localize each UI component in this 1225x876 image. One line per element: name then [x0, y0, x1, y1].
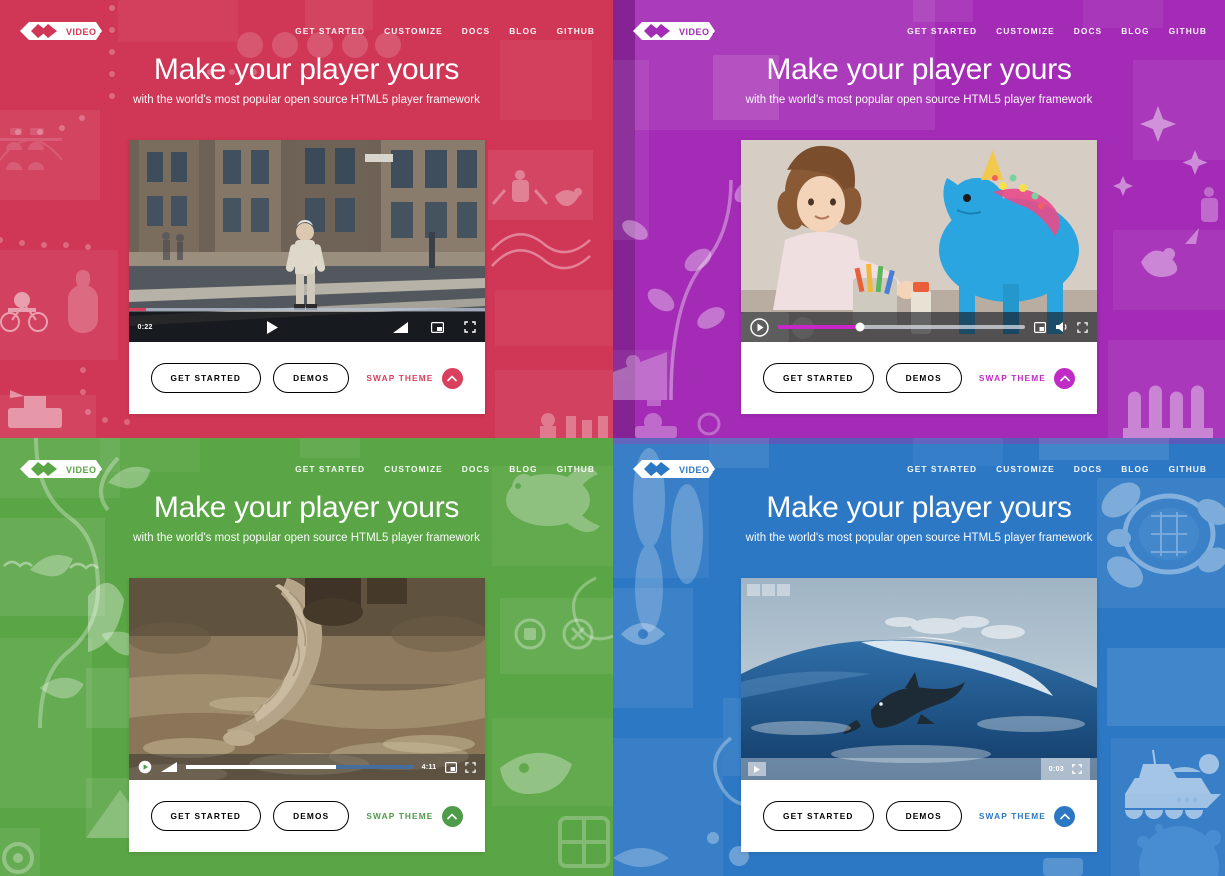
- volume-icon[interactable]: [160, 761, 178, 773]
- nav-link-customize[interactable]: CUSTOMIZE: [996, 26, 1055, 36]
- card-actions-purple: GET STARTED DEMOS SWAP THEME: [741, 342, 1097, 414]
- nav-link-blog[interactable]: BLOG: [1121, 464, 1149, 474]
- page-subtitle: with the world's most popular open sourc…: [0, 94, 613, 106]
- current-time-label: 0:03: [1049, 766, 1064, 773]
- picture-in-picture-icon[interactable]: [1034, 322, 1046, 333]
- nav-link-docs[interactable]: DOCS: [1074, 26, 1102, 36]
- svg-text:VIDEO JS: VIDEO JS: [66, 465, 102, 475]
- nav-link-customize[interactable]: CUSTOMIZE: [384, 464, 443, 474]
- videojs-logo[interactable]: VIDEO JS: [16, 457, 102, 481]
- nav-link-get-started[interactable]: GET STARTED: [907, 464, 977, 474]
- progress-bar-green[interactable]: [186, 765, 414, 769]
- page-subtitle: with the world's most popular open sourc…: [0, 532, 613, 544]
- swap-theme-label: SWAP THEME: [979, 373, 1046, 383]
- nav-link-customize[interactable]: CUSTOMIZE: [384, 26, 443, 36]
- svg-text:VIDEO JS: VIDEO JS: [679, 27, 715, 37]
- page-subtitle: with the world's most popular open sourc…: [613, 532, 1225, 544]
- player-controls-red[interactable]: 0:22: [129, 312, 485, 342]
- play-icon[interactable]: [265, 320, 279, 335]
- nav-link-github[interactable]: GITHUB: [557, 464, 595, 474]
- progress-bar-red[interactable]: [129, 308, 485, 311]
- panel-purple-theme: VIDEO JS GET STARTED CUSTOMIZE DOCS BLOG…: [613, 0, 1225, 438]
- fullscreen-icon[interactable]: [464, 321, 476, 333]
- nav-links-red: GET STARTED CUSTOMIZE DOCS BLOG GITHUB: [295, 26, 595, 36]
- fullscreen-icon[interactable]: [1072, 764, 1082, 774]
- player-card-purple: GET STARTED DEMOS SWAP THEME: [741, 140, 1097, 414]
- chevron-up-icon: [1060, 375, 1070, 382]
- demos-button[interactable]: DEMOS: [273, 363, 349, 393]
- player-card-blue: 0:03 GET STARTED DEMOS SWAP THEME: [741, 578, 1097, 852]
- videojs-logo[interactable]: VIDEO JS: [629, 19, 715, 43]
- nav-link-docs[interactable]: DOCS: [462, 26, 490, 36]
- panel-blue-theme: VIDEO JS GET STARTED CUSTOMIZE DOCS BLOG…: [613, 438, 1225, 876]
- player-right-controls: 0:03: [1041, 758, 1090, 780]
- get-started-button[interactable]: GET STARTED: [151, 801, 262, 831]
- nav-link-blog[interactable]: BLOG: [1121, 26, 1149, 36]
- site-nav-purple: VIDEO JS GET STARTED CUSTOMIZE DOCS BLOG…: [613, 0, 1225, 62]
- fullscreen-icon[interactable]: [1077, 322, 1088, 333]
- play-circle-icon[interactable]: [138, 760, 152, 774]
- chevron-up-icon: [447, 375, 457, 382]
- swap-theme-button[interactable]: [1054, 368, 1075, 389]
- swap-theme-group: SWAP THEME: [979, 368, 1075, 389]
- swap-theme-button[interactable]: [442, 368, 463, 389]
- get-started-button[interactable]: GET STARTED: [763, 363, 874, 393]
- svg-text:VIDEO JS: VIDEO JS: [679, 465, 715, 475]
- demos-button[interactable]: DEMOS: [273, 801, 349, 831]
- nav-link-get-started[interactable]: GET STARTED: [295, 26, 365, 36]
- fullscreen-icon[interactable]: [465, 762, 476, 773]
- theme-gallery-grid: VIDEO JS GET STARTED CUSTOMIZE DOCS BLOG…: [0, 0, 1225, 876]
- swap-theme-group: SWAP THEME: [366, 806, 462, 827]
- video-player-green[interactable]: 4:11: [129, 578, 485, 780]
- swap-theme-button[interactable]: [1054, 806, 1075, 827]
- player-card-red: 0:22 GET STARTED DEMO: [129, 140, 485, 414]
- get-started-button[interactable]: GET STARTED: [151, 363, 262, 393]
- nav-link-blog[interactable]: BLOG: [509, 26, 537, 36]
- volume-icon[interactable]: [1055, 321, 1068, 333]
- video-player-blue[interactable]: 0:03: [741, 578, 1097, 780]
- card-actions-blue: GET STARTED DEMOS SWAP THEME: [741, 780, 1097, 852]
- video-player-purple[interactable]: [741, 140, 1097, 342]
- play-circle-icon[interactable]: [750, 318, 769, 337]
- nav-link-customize[interactable]: CUSTOMIZE: [996, 464, 1055, 474]
- swap-theme-group: SWAP THEME: [979, 806, 1075, 827]
- site-nav-red: VIDEO JS GET STARTED CUSTOMIZE DOCS BLOG…: [0, 0, 613, 62]
- swap-theme-label: SWAP THEME: [366, 373, 433, 383]
- panel-red-theme: VIDEO JS GET STARTED CUSTOMIZE DOCS BLOG…: [0, 0, 613, 438]
- nav-links-blue: GET STARTED CUSTOMIZE DOCS BLOG GITHUB: [907, 464, 1207, 474]
- nav-link-docs[interactable]: DOCS: [462, 464, 490, 474]
- videojs-logo[interactable]: VIDEO JS: [629, 457, 715, 481]
- nav-link-github[interactable]: GITHUB: [1169, 26, 1207, 36]
- demos-button[interactable]: DEMOS: [886, 363, 962, 393]
- swap-theme-button[interactable]: [442, 806, 463, 827]
- card-actions-green: GET STARTED DEMOS SWAP THEME: [129, 780, 485, 852]
- site-nav-green: VIDEO JS GET STARTED CUSTOMIZE DOCS BLOG…: [0, 438, 613, 500]
- video-player-red[interactable]: 0:22: [129, 140, 485, 342]
- videojs-logo[interactable]: VIDEO JS: [16, 19, 102, 43]
- swap-theme-label: SWAP THEME: [366, 811, 433, 821]
- picture-in-picture-icon[interactable]: [431, 322, 444, 333]
- page-subtitle: with the world's most popular open sourc…: [613, 94, 1225, 106]
- player-controls-purple[interactable]: [741, 312, 1097, 342]
- player-controls-green[interactable]: 4:11: [129, 754, 485, 780]
- svg-text:VIDEO JS: VIDEO JS: [66, 27, 102, 37]
- progress-bar-purple[interactable]: [778, 325, 1025, 329]
- nav-links-green: GET STARTED CUSTOMIZE DOCS BLOG GITHUB: [295, 464, 595, 474]
- card-actions-red: GET STARTED DEMOS SWAP THEME: [129, 342, 485, 414]
- player-controls-blue[interactable]: 0:03: [741, 758, 1097, 780]
- nav-links-purple: GET STARTED CUSTOMIZE DOCS BLOG GITHUB: [907, 26, 1207, 36]
- volume-icon[interactable]: [392, 321, 409, 334]
- panel-green-theme: VIDEO JS GET STARTED CUSTOMIZE DOCS BLOG…: [0, 438, 613, 876]
- swap-theme-group: SWAP THEME: [366, 368, 462, 389]
- nav-link-github[interactable]: GITHUB: [1169, 464, 1207, 474]
- video-scene-dolphin-wave: [741, 578, 1097, 780]
- video-scene-elephant-trunk: [129, 578, 485, 780]
- nav-link-docs[interactable]: DOCS: [1074, 464, 1102, 474]
- site-nav-blue: VIDEO JS GET STARTED CUSTOMIZE DOCS BLOG…: [613, 438, 1225, 500]
- current-time-label: 4:11: [422, 764, 437, 771]
- demos-button[interactable]: DEMOS: [886, 801, 962, 831]
- chevron-up-icon: [447, 813, 457, 820]
- get-started-button[interactable]: GET STARTED: [763, 801, 874, 831]
- chevron-up-icon: [1060, 813, 1070, 820]
- swap-theme-label: SWAP THEME: [979, 811, 1046, 821]
- player-card-green: 4:11 GET STARTED DEMOS SWAP THEME: [129, 578, 485, 852]
- nav-link-get-started[interactable]: GET STARTED: [907, 26, 977, 36]
- nav-link-blog[interactable]: BLOG: [509, 464, 537, 474]
- current-time-label: 0:22: [138, 324, 153, 331]
- nav-link-get-started[interactable]: GET STARTED: [295, 464, 365, 474]
- nav-link-github[interactable]: GITHUB: [557, 26, 595, 36]
- play-icon[interactable]: [748, 762, 766, 776]
- picture-in-picture-icon[interactable]: [445, 762, 457, 773]
